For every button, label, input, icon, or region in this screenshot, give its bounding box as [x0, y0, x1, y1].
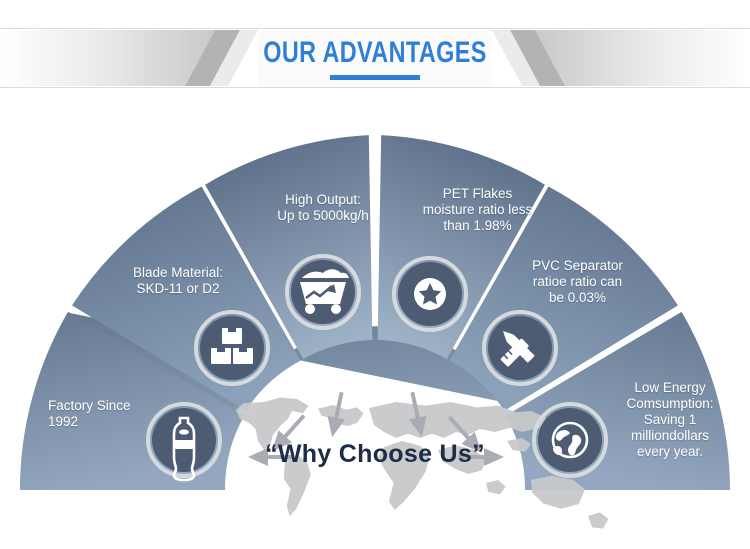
- icon-circle-pencil-ruler[interactable]: [484, 312, 556, 384]
- icon-circle-boxes[interactable]: [196, 312, 268, 384]
- segment-label-factory-since: Factory Since 1992: [48, 398, 198, 430]
- icon-circle-mine-cart[interactable]: [287, 256, 359, 328]
- icon-circle-star[interactable]: [394, 258, 466, 330]
- infographic-canvas: OUR ADVANTAGES: [0, 0, 750, 549]
- segment-label-blade-material: Blade Material: SKD-11 or D2: [98, 265, 258, 297]
- segment-label-high-output: High Output: Up to 5000kg/h: [238, 192, 408, 224]
- segment-label-pet-flakes: PET Flakes moisture ratio less than 1.98…: [390, 186, 565, 234]
- segment-label-pvc-separator: PVC Separator ratioe ratio can be 0.03%: [495, 258, 660, 306]
- star-badge-icon: [414, 278, 446, 310]
- center-headline: “Why Choose Us”: [0, 440, 750, 469]
